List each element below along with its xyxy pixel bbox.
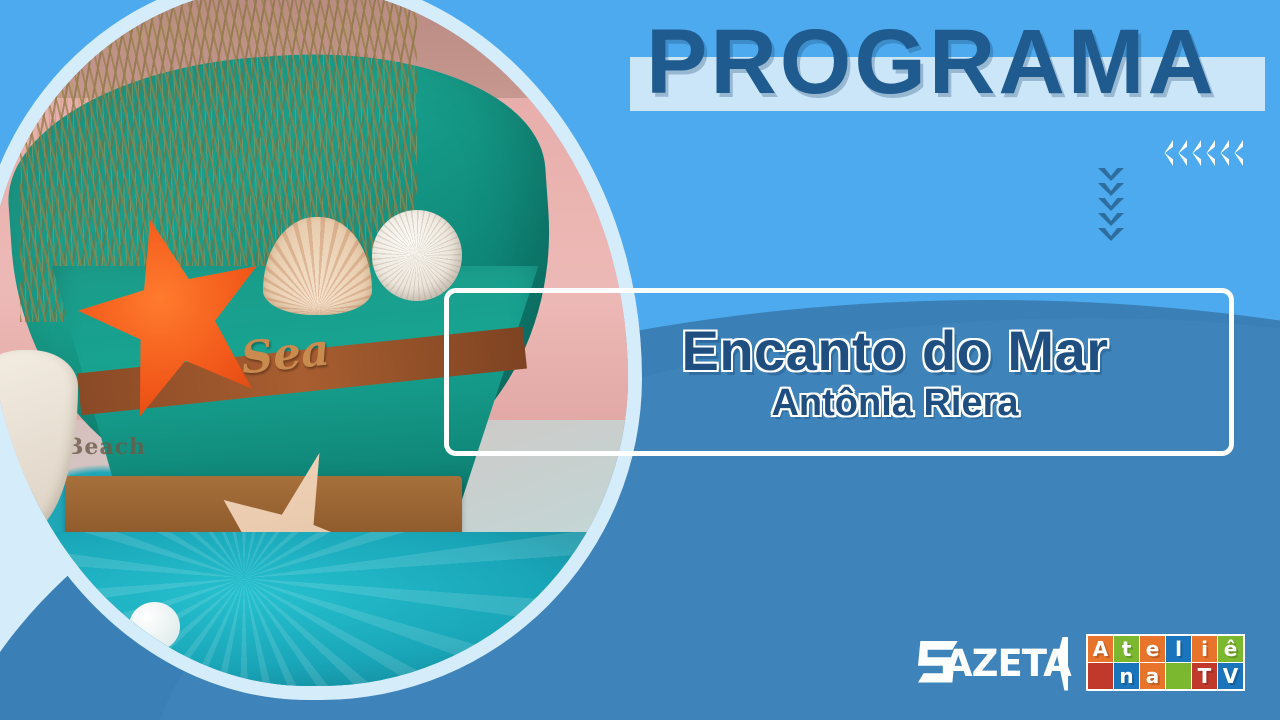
atelie-tile-0-0: A [1088, 636, 1113, 662]
atelie-tile-letter: T [1198, 666, 1212, 686]
atelie-tile-1-0 [1088, 663, 1113, 689]
photo-white-bead [129, 602, 180, 651]
chevron-down-icon [1098, 183, 1124, 196]
atelie-tile-letter: e [1146, 639, 1160, 659]
chevron-left-icon [1230, 140, 1243, 166]
atelie-tile-0-4: i [1192, 636, 1217, 662]
logo-group: AZETA AteliênaTV [918, 634, 1245, 691]
photo-sea-lettering: Sea [239, 311, 467, 445]
chevron-down-column [1098, 168, 1124, 243]
program-title: Encanto do Mar [681, 322, 1108, 381]
gazeta-logo: AZETA [918, 635, 1068, 691]
chevron-left-row [1160, 140, 1244, 166]
gazeta-wordmark: AZETA [944, 642, 1071, 685]
atelie-tile-1-5: V [1218, 663, 1243, 689]
atelie-tile-1-4: T [1192, 663, 1217, 689]
atelie-tile-1-3 [1166, 663, 1191, 689]
page-title: PROGRAMA [646, 16, 1266, 108]
atelie-tile-letter: V [1223, 666, 1238, 686]
atelie-tile-letter: t [1122, 639, 1132, 659]
chevron-left-icon [1188, 140, 1201, 166]
photo-teal-fabric-floor [0, 532, 628, 686]
chevron-down-icon [1098, 213, 1124, 226]
chevron-left-icon [1202, 140, 1215, 166]
atelie-tile-1-2: a [1140, 663, 1165, 689]
atelie-tile-0-3: l [1166, 636, 1191, 662]
title-card-content: Encanto do Mar Antônia Riera [560, 300, 1230, 446]
atelie-tile-letter: l [1175, 639, 1182, 659]
chevron-left-icon [1174, 140, 1187, 166]
slide-canvas: Sea Beach PROGRAMA Encanto do Mar Antôni… [0, 0, 1280, 720]
atelie-tile-letter: ê [1224, 639, 1238, 659]
atelie-tile-letter: a [1146, 666, 1160, 686]
chevron-down-icon [1098, 168, 1124, 181]
chevron-left-icon [1216, 140, 1229, 166]
atelie-tile-0-1: t [1114, 636, 1139, 662]
atelie-tile-1-1: n [1114, 663, 1139, 689]
atelie-na-tv-logo: AteliênaTV [1086, 634, 1245, 691]
chevron-left-icon [1160, 140, 1173, 166]
chevron-down-icon [1098, 228, 1124, 241]
atelie-tile-0-2: e [1140, 636, 1165, 662]
atelie-tile-letter: A [1093, 639, 1108, 659]
photo-round-shell [372, 210, 462, 301]
atelie-tile-letter: n [1119, 666, 1133, 686]
program-presenter: Antônia Riera [771, 384, 1018, 424]
chevron-down-icon [1098, 198, 1124, 211]
atelie-tile-letter: i [1201, 639, 1208, 659]
atelie-tile-0-5: ê [1218, 636, 1243, 662]
